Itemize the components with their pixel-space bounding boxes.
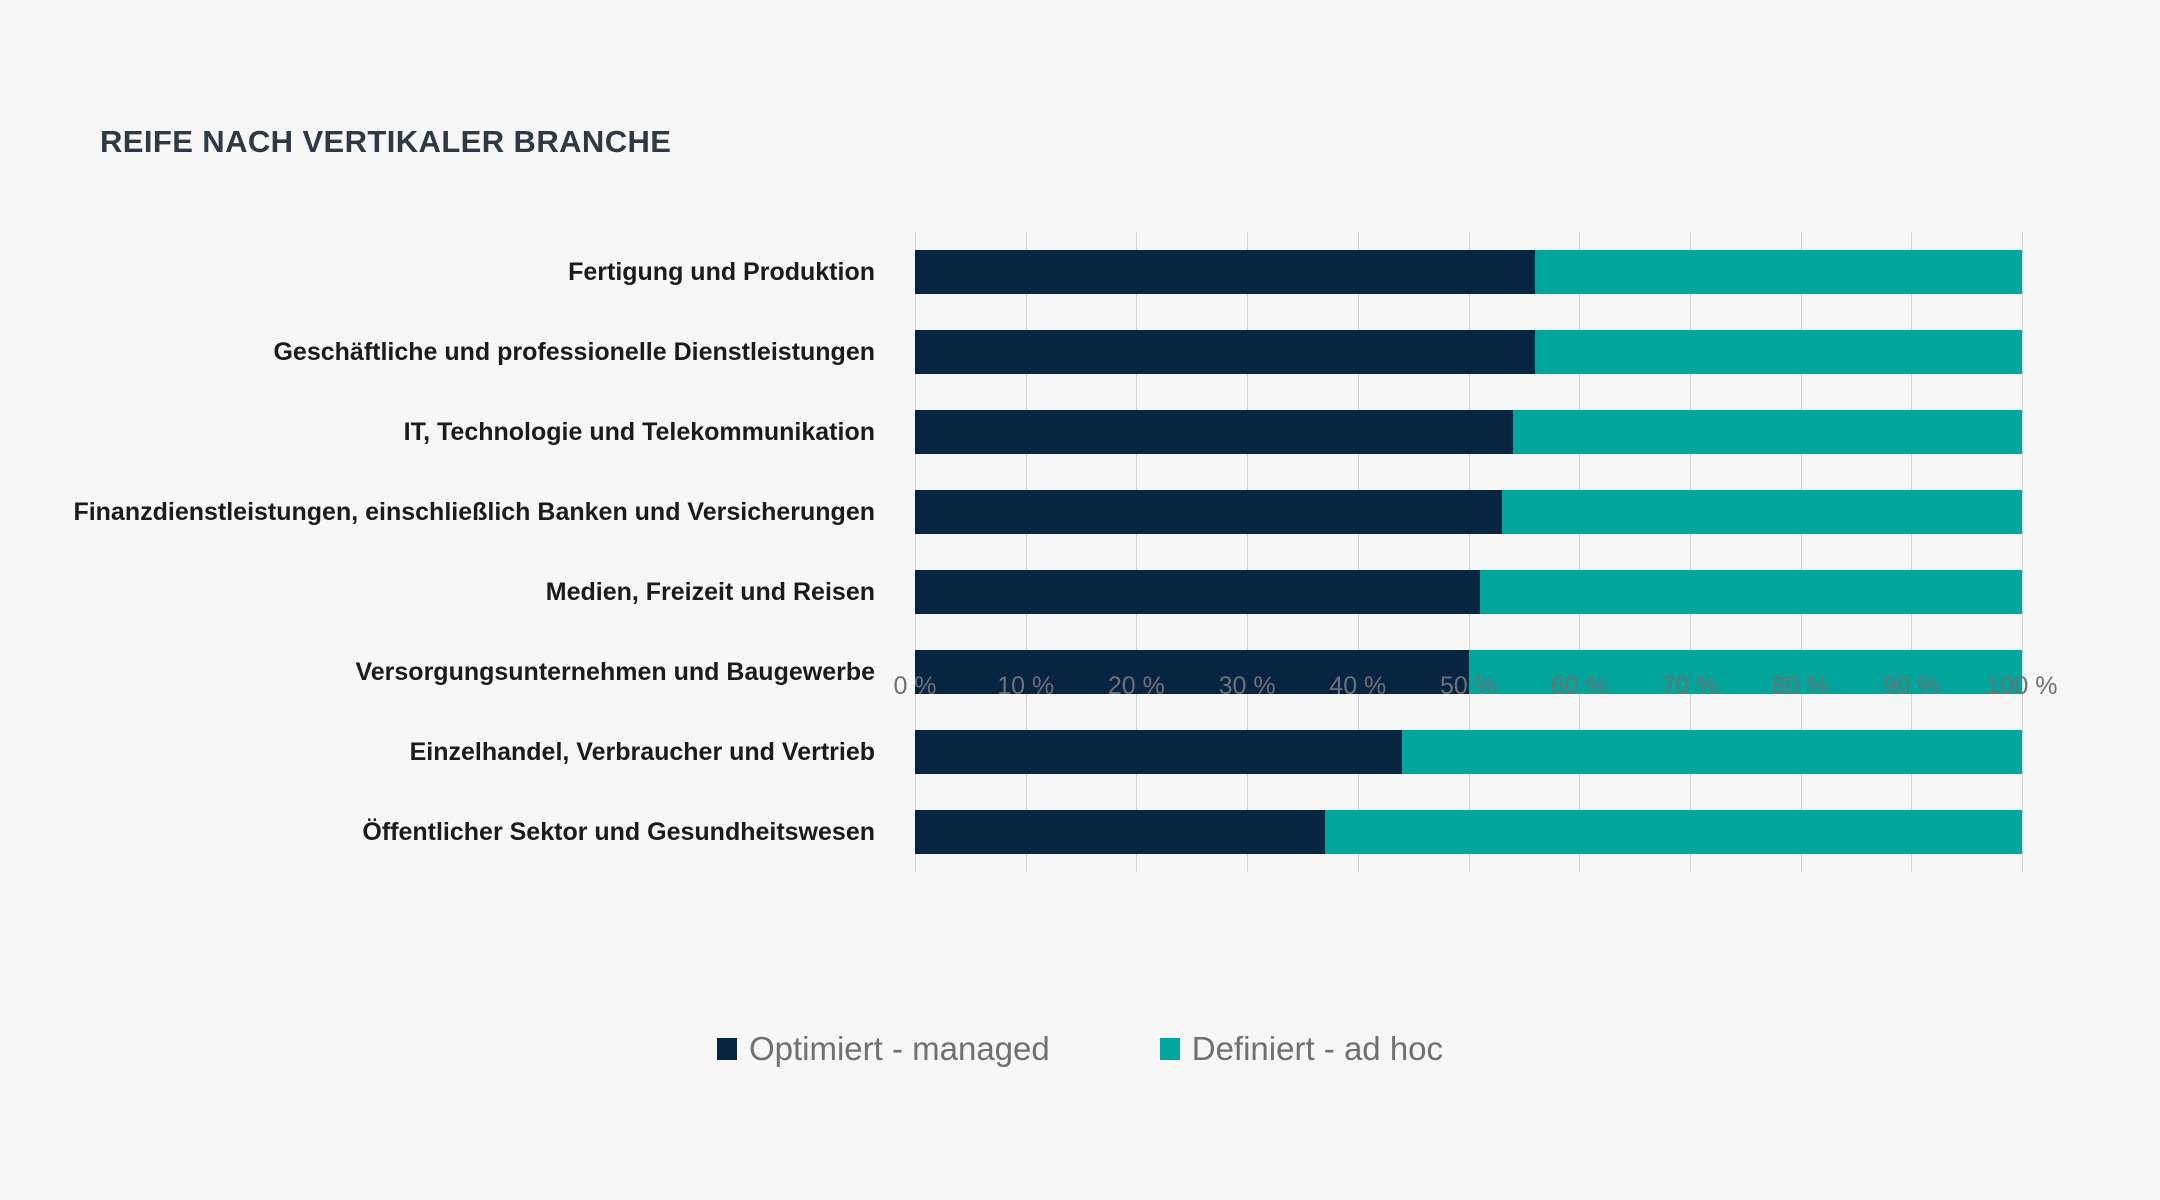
plot-wrapper: Fertigung und ProduktionGeschäftliche un… xyxy=(0,232,2160,892)
category-axis-labels: Fertigung und ProduktionGeschäftliche un… xyxy=(0,232,895,872)
bar-segment-optimiert[interactable] xyxy=(915,250,1535,294)
legend-swatch-icon xyxy=(717,1038,737,1060)
x-tick-label: 100 % xyxy=(1987,672,2058,701)
category-label: Fertigung und Produktion xyxy=(0,257,875,288)
bar-row[interactable] xyxy=(915,490,2022,534)
chart-page: REIFE NACH VERTIKALER BRANCHE Fertigung … xyxy=(0,0,2160,1200)
x-tick-label: 30 % xyxy=(1219,672,1276,701)
bar-segment-definiert[interactable] xyxy=(1502,490,2022,534)
x-tick-label: 0 % xyxy=(893,672,936,701)
category-label: Medien, Freizeit und Reisen xyxy=(0,577,875,608)
x-tick-label: 80 % xyxy=(1772,672,1829,701)
category-label: IT, Technologie und Telekommunikation xyxy=(0,417,875,448)
category-label: Geschäftliche und professionelle Dienstl… xyxy=(0,337,875,368)
x-tick-label: 70 % xyxy=(1661,672,1718,701)
bar-row[interactable] xyxy=(915,730,2022,774)
category-label: Einzelhandel, Verbraucher und Vertrieb xyxy=(0,737,875,768)
bar-segment-definiert[interactable] xyxy=(1513,410,2022,454)
bar-row[interactable] xyxy=(915,250,2022,294)
bar-row[interactable] xyxy=(915,330,2022,374)
category-label: Versorgungsunternehmen und Baugewerbe xyxy=(0,657,875,688)
bar-segment-optimiert[interactable] xyxy=(915,570,1480,614)
legend-item[interactable]: Definiert - ad hoc xyxy=(1160,1030,1443,1068)
x-tick-label: 40 % xyxy=(1329,672,1386,701)
bar-segment-optimiert[interactable] xyxy=(915,490,1502,534)
bar-segment-definiert[interactable] xyxy=(1535,330,2022,374)
category-label: Öffentlicher Sektor und Gesundheitswesen xyxy=(0,817,875,848)
bar-row[interactable] xyxy=(915,810,2022,854)
bar-segment-definiert[interactable] xyxy=(1535,250,2022,294)
x-axis-tick-labels: 0 %10 %20 %30 %40 %50 %60 %70 %80 %90 %1… xyxy=(915,672,2022,712)
bar-segment-optimiert[interactable] xyxy=(915,330,1535,374)
category-label: Finanzdienstleistungen, einschließlich B… xyxy=(0,497,875,528)
legend-swatch-icon xyxy=(1160,1038,1180,1060)
chart-title: REIFE NACH VERTIKALER BRANCHE xyxy=(100,124,671,160)
bar-segment-definiert[interactable] xyxy=(1325,810,2022,854)
x-tick-label: 50 % xyxy=(1440,672,1497,701)
legend-label: Definiert - ad hoc xyxy=(1192,1030,1443,1068)
bar-row[interactable] xyxy=(915,570,2022,614)
plot-area xyxy=(915,232,2022,872)
gridline-100 xyxy=(2022,232,2023,872)
legend-item[interactable]: Optimiert - managed xyxy=(717,1030,1050,1068)
legend-label: Optimiert - managed xyxy=(749,1030,1050,1068)
x-tick-label: 60 % xyxy=(1551,672,1608,701)
bar-segment-optimiert[interactable] xyxy=(915,410,1513,454)
bar-row[interactable] xyxy=(915,410,2022,454)
x-tick-label: 90 % xyxy=(1883,672,1940,701)
chart-legend: Optimiert - managedDefiniert - ad hoc xyxy=(0,1030,2160,1068)
bar-segment-definiert[interactable] xyxy=(1402,730,2022,774)
bar-series-container xyxy=(915,232,2022,872)
x-tick-label: 10 % xyxy=(997,672,1054,701)
x-tick-label: 20 % xyxy=(1108,672,1165,701)
bar-segment-definiert[interactable] xyxy=(1480,570,2022,614)
bar-segment-optimiert[interactable] xyxy=(915,730,1402,774)
bar-segment-optimiert[interactable] xyxy=(915,810,1325,854)
